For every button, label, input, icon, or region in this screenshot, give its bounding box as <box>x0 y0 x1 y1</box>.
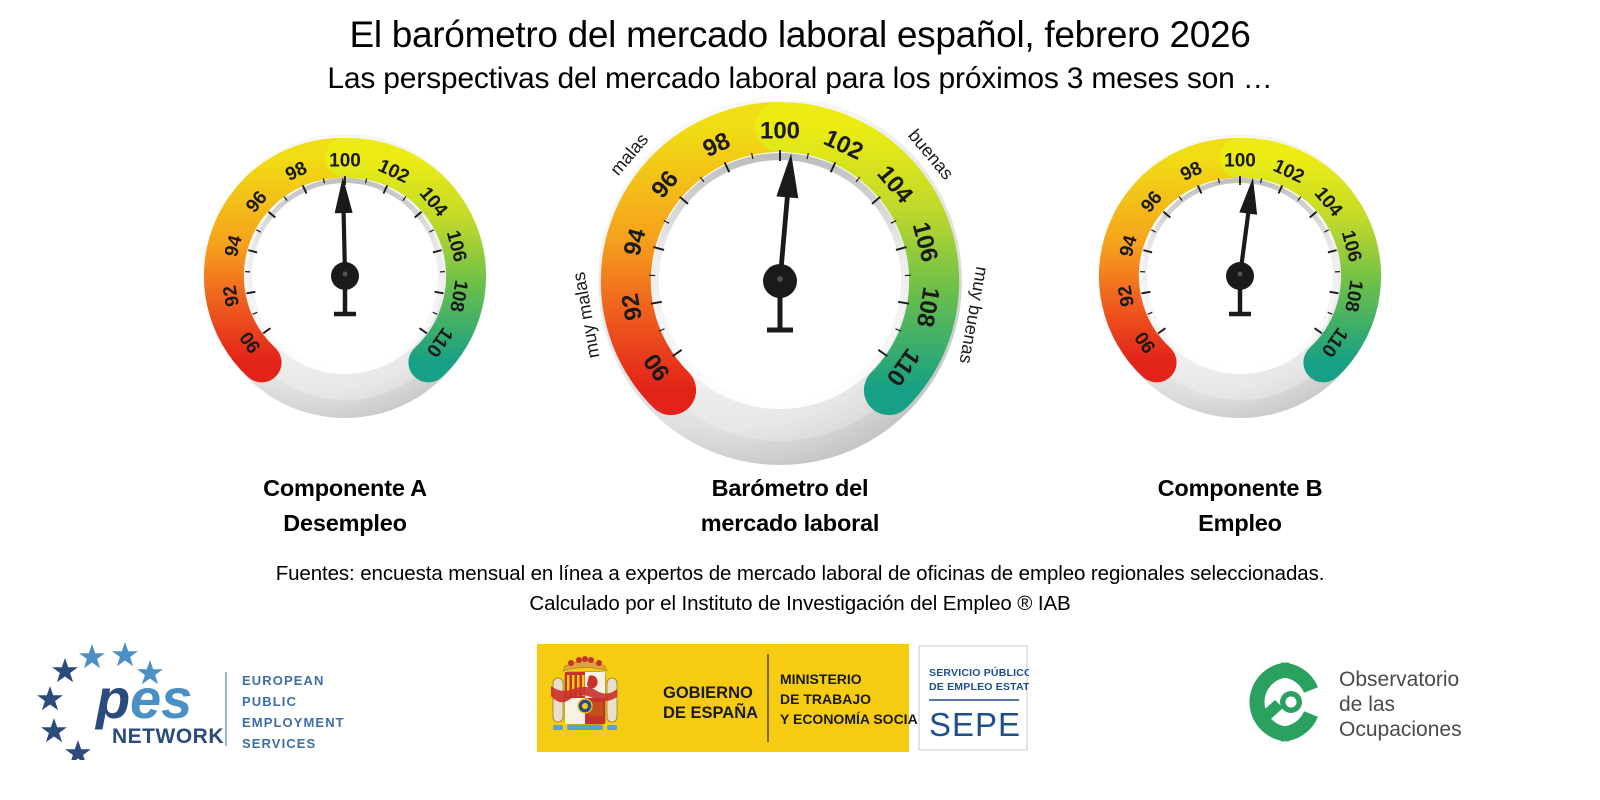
caption-line-2: Empleo <box>1090 506 1390 540</box>
caption-componente-b: Componente B Empleo <box>1090 471 1390 539</box>
sepe-acronym: SEPE <box>929 706 1021 743</box>
page-subtitle: Las perspectivas del mercado laboral par… <box>0 61 1600 97</box>
pes-network-word: NETWORK <box>112 725 224 748</box>
pes-tagline-3: EMPLOYMENT <box>242 715 345 730</box>
logo-gobierno-sepe: GOBIERNO DE ESPAÑA MINISTERIO DE TRABAJO… <box>537 644 1029 757</box>
gauge-row: 9092949698100102104106108110 <box>0 101 1600 471</box>
gauge-right-svg: 9092949698100102104106108110 <box>1090 133 1390 423</box>
observatorio-svg: Observatorio de las Ocupaciones <box>1215 648 1555 756</box>
pes-p-letter: p <box>94 667 130 730</box>
footnote: Fuentes: encuesta mensual en línea a exp… <box>0 559 1600 617</box>
observatorio-mark-icon <box>1255 670 1311 734</box>
pes-es-letters: es <box>130 667 192 730</box>
caption-barometro: Barómetro del mercado laboral <box>600 471 980 539</box>
ministerio-line-2: DE TRABAJO <box>780 691 871 707</box>
sepe-line-1: SERVICIO PÚBLICO <box>929 666 1029 679</box>
caption-line-1: Componente A <box>195 471 495 505</box>
gauge-tick-label: 92 <box>1115 284 1139 308</box>
caption-componente-a: Componente A Desempleo <box>195 471 495 539</box>
gauge-componente-b: 9092949698100102104106108110 <box>1090 133 1390 423</box>
gauge-tick-label: 100 <box>760 118 800 145</box>
gauge-tick-label: 92 <box>220 284 244 308</box>
footnote-sources: Fuentes: encuesta mensual en línea a exp… <box>0 559 1600 588</box>
gauge-captions: Componente A Desempleo Barómetro del mer… <box>0 471 1600 553</box>
gauge-tick-label: 100 <box>1224 151 1256 172</box>
gauge-left-svg: 9092949698100102104106108110 <box>195 133 495 423</box>
observatorio-line-2: de las <box>1339 693 1395 716</box>
caption-line-1: Componente B <box>1090 471 1390 505</box>
pes-network-svg: p es NETWORK EUROPEAN PUBLIC EMPLOYMENT … <box>30 640 360 760</box>
gobierno-line-1: GOBIERNO <box>663 684 753 702</box>
caption-line-2: mercado laboral <box>600 506 980 540</box>
ministerio-line-3: Y ECONOMÍA SOCIAL <box>780 711 927 727</box>
gobierno-line-2: DE ESPAÑA <box>663 702 758 722</box>
caption-line-1: Barómetro del <box>600 471 980 505</box>
observatorio-line-3: Ocupaciones <box>1339 718 1462 741</box>
gauge-tick-label: 92 <box>617 292 648 323</box>
gobierno-sepe-svg: GOBIERNO DE ESPAÑA MINISTERIO DE TRABAJO… <box>537 644 1029 752</box>
pes-tagline-4: SERVICES <box>242 736 316 751</box>
logo-row: p es NETWORK EUROPEAN PUBLIC EMPLOYMENT … <box>0 632 1600 782</box>
observatorio-line-1: Observatorio <box>1339 668 1459 691</box>
pes-tagline-1: EUROPEAN <box>242 673 324 688</box>
logo-pes-network: p es NETWORK EUROPEAN PUBLIC EMPLOYMENT … <box>30 640 360 765</box>
gauge-barometro: 9092949698100102104106108110 muy malasma… <box>570 101 1010 466</box>
page-title: El barómetro del mercado laboral español… <box>0 14 1600 55</box>
pes-tagline-2: PUBLIC <box>242 694 297 709</box>
caption-line-2: Desempleo <box>195 506 495 540</box>
logo-observatorio: Observatorio de las Ocupaciones <box>1215 648 1555 761</box>
gauge-tick-label: 100 <box>329 151 361 172</box>
footnote-calculated-by: Calculado por el Instituto de Investigac… <box>0 589 1600 618</box>
sepe-line-2: DE EMPLEO ESTATAL <box>929 681 1029 693</box>
header: El barómetro del mercado laboral español… <box>0 0 1600 97</box>
ministerio-line-1: MINISTERIO <box>780 671 862 687</box>
gauge-main-svg: 9092949698100102104106108110 muy malasma… <box>570 101 1010 466</box>
gauge-componente-a: 9092949698100102104106108110 <box>195 133 495 423</box>
